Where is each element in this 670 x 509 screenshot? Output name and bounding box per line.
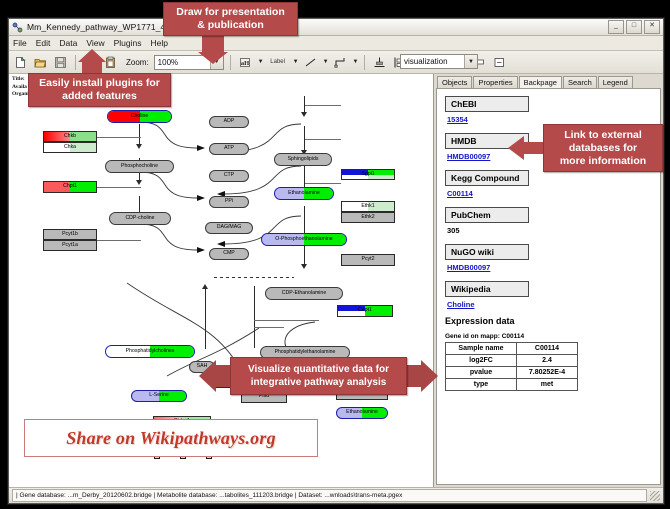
- cell-value: 2.4: [517, 355, 578, 367]
- callout-visualize-line1: Visualize quantitative data for: [248, 363, 389, 376]
- menubar: File Edit Data View Plugins Help: [9, 36, 663, 51]
- tab-properties[interactable]: Properties: [473, 76, 517, 88]
- tab-backpage[interactable]: Backpage: [519, 76, 562, 88]
- node-label: Sphingolipids: [288, 157, 319, 162]
- node-label: L-Serine: [149, 393, 169, 398]
- table-row: log2FC 2.4: [446, 355, 578, 367]
- edge-pe-pc-dashed: [214, 277, 294, 278]
- callout-draw-line1: Draw for presentation: [176, 6, 285, 19]
- maximize-button[interactable]: □: [626, 20, 642, 34]
- cell-value: C00114: [517, 343, 578, 355]
- db-value-pubchem: 305: [447, 226, 660, 235]
- db-header-kegg: Kegg Compound: [445, 170, 529, 186]
- label-icon[interactable]: Label: [267, 54, 289, 71]
- edge-pc-pe-return: [205, 289, 206, 349]
- pathvisio-icon: [12, 22, 23, 33]
- chevron-down-icon[interactable]: ▼: [353, 59, 359, 65]
- callout-links-arrowhead-icon: [508, 136, 524, 160]
- node-label: O-Phosphoethanolamine: [275, 237, 332, 242]
- close-button[interactable]: ✕: [644, 20, 660, 34]
- cell-key: Sample name: [446, 343, 517, 355]
- side-panel-tabs: Objects Properties Backpage Search Legen…: [434, 74, 663, 88]
- edge-choline-phosphocholine: [139, 124, 140, 146]
- node-gene-ethk1[interactable]: Ethk1: [341, 201, 395, 212]
- font-icon[interactable]: aH: [237, 54, 254, 71]
- tab-search[interactable]: Search: [563, 76, 597, 88]
- node-cdp-choline[interactable]: CDP-choline: [109, 212, 171, 225]
- minimize-button[interactable]: _: [608, 20, 624, 34]
- db-header-pubchem: PubChem: [445, 207, 529, 223]
- toolbar: Zoom: 100% ▼ aH ▼ Label ▼ ▼ ▼: [9, 51, 663, 74]
- node-label: Ethk2: [361, 215, 374, 220]
- node-label: Phosphocholine: [121, 164, 158, 169]
- chevron-down-icon[interactable]: ▼: [258, 59, 264, 65]
- node-cofactor-adp[interactable]: ADP: [209, 116, 249, 128]
- screenshot-root: Mm_Kennedy_pathway_WP1771_45176.gpml - P…: [0, 0, 670, 509]
- node-label: Sgpl1: [361, 172, 374, 177]
- info-availability: Availa: [12, 84, 29, 92]
- node-label: Pcyt1a: [62, 243, 78, 248]
- gene-id-line: Gene id on mapp: C00114: [445, 333, 660, 340]
- callout-draw-tail-stem: [202, 36, 224, 52]
- node-label: Pisd: [259, 394, 269, 399]
- align-bottom-icon[interactable]: [371, 54, 388, 71]
- callout-draw: Draw for presentation & publication: [163, 2, 298, 36]
- table-row: Sample name C00114: [446, 343, 578, 355]
- node-label: Phosphatidylcholines: [126, 349, 175, 354]
- zoom-value: 100%: [158, 58, 178, 67]
- edge-ptdss-branch: [254, 286, 255, 348]
- edge-chpt1-line: [97, 187, 141, 188]
- edge-ethk-line: [305, 139, 341, 140]
- node-cofactor-ctp[interactable]: CTP: [209, 170, 249, 182]
- visualization-combobox[interactable]: visualization ▼: [400, 54, 478, 69]
- line-icon[interactable]: [302, 54, 319, 71]
- node-label: CMP: [223, 251, 235, 256]
- arrowhead-icon: [301, 112, 307, 117]
- visualization-value: visualization: [404, 57, 448, 66]
- arrowhead-icon: [301, 264, 307, 269]
- table-row: pvalue 7.80252E-4: [446, 367, 578, 379]
- db-link-chebi[interactable]: 15354: [447, 115, 660, 124]
- node-cdp-ethanolamine[interactable]: CDP-Ethanolamine: [265, 287, 343, 300]
- node-gene-pcyt2[interactable]: Pcyt2: [341, 254, 395, 266]
- cell-value: 7.80252E-4: [517, 367, 578, 379]
- menu-view[interactable]: View: [86, 38, 104, 48]
- callout-visualize-arrowhead-right-icon: [421, 360, 438, 392]
- menu-edit[interactable]: Edit: [36, 38, 51, 48]
- node-ethanolamine-top[interactable]: Ethanolamine: [274, 187, 334, 200]
- pathway-info-block: Title: Availa Organi: [12, 76, 29, 99]
- db-link-nugowiki[interactable]: HMDB00097: [447, 263, 660, 272]
- node-label: ADP: [224, 119, 235, 124]
- new-icon[interactable]: [12, 54, 29, 71]
- window-controls: _ □ ✕: [608, 20, 660, 34]
- edge-pcyt2-line: [305, 183, 341, 184]
- callout-visualize-arrowhead-left-icon: [199, 360, 216, 392]
- db-header-wikipedia: Wikipedia: [445, 281, 529, 297]
- menu-file[interactable]: File: [13, 38, 27, 48]
- save-icon[interactable]: [52, 54, 69, 71]
- cofactor-curve-adp-atp: [135, 120, 215, 152]
- label-dropdown-text: Label: [270, 59, 285, 65]
- edge-ptdss2-line: [254, 320, 319, 321]
- node-label: PPi: [225, 199, 233, 204]
- node-sphingolipids[interactable]: Sphingolipids: [274, 153, 332, 166]
- node-gene-pcyt1b[interactable]: Pcyt1b: [43, 229, 97, 240]
- node-gene-pcyt1a[interactable]: Pcyt1a: [43, 240, 97, 251]
- status-text: | Gene database: ...m_Derby_20120602.bri…: [12, 489, 647, 502]
- info-organism: Organi: [12, 91, 29, 99]
- node-gene-sgpl1[interactable]: Sgpl1: [341, 169, 395, 180]
- node-label: Pcyt2: [362, 257, 375, 262]
- info-title: Title:: [12, 76, 29, 84]
- chevron-down-icon[interactable]: ▼: [323, 59, 329, 65]
- node-gene-cept1[interactable]: Cept1: [337, 305, 393, 317]
- node-gene-chpt1[interactable]: Chpt1: [43, 181, 97, 193]
- node-o-phosphoethanolamine[interactable]: O-Phosphoethanolamine: [261, 233, 347, 246]
- callout-plugins-line1: Easily install plugins for: [39, 77, 160, 90]
- titlebar: Mm_Kennedy_pathway_WP1771_45176.gpml - P…: [9, 19, 663, 36]
- node-label: Ethk1: [361, 204, 374, 209]
- node-label: DAG/MAG: [217, 225, 242, 230]
- edge-chk-line: [97, 137, 141, 138]
- node-label: CTP: [224, 173, 234, 178]
- cell-key: log2FC: [446, 355, 517, 367]
- node-gene-chka[interactable]: Chka: [43, 142, 97, 153]
- callout-links-tail-stem: [523, 142, 545, 154]
- node-label: Ethanolamine: [288, 191, 320, 196]
- node-choline-top[interactable]: Choline: [107, 110, 172, 123]
- edge-sgpl1-line: [305, 105, 341, 106]
- callout-plugins-line2: added features: [62, 90, 137, 103]
- open-icon[interactable]: [32, 54, 49, 71]
- db-header-nugowiki: NuGO wiki: [445, 244, 529, 260]
- chevron-down-icon[interactable]: ▼: [464, 55, 477, 68]
- node-phosphatidylcholines[interactable]: Phosphatidylcholines: [105, 345, 195, 358]
- connector-icon[interactable]: [332, 54, 349, 71]
- toolbar-separator: [230, 55, 231, 70]
- statusbar: | Gene database: ...m_Derby_20120602.bri…: [9, 487, 663, 503]
- expression-table: Sample name C00114 log2FC 2.4 pvalue 7.8…: [445, 342, 578, 391]
- arrowhead-icon: [136, 180, 142, 185]
- node-l-serine-left[interactable]: L-Serine: [131, 390, 187, 402]
- callout-visualize: Visualize quantitative data for integrat…: [230, 357, 407, 395]
- node-ethanolamine-bottom[interactable]: Ethanolamine: [336, 407, 388, 419]
- cofactor-curve-ctp-ppi: [135, 170, 215, 202]
- cofactor-curve-dag-cmp: [135, 222, 215, 254]
- zoom-fit-icon[interactable]: [491, 54, 508, 71]
- callout-links-line3: more information: [560, 155, 646, 168]
- node-label: Choline: [131, 114, 149, 119]
- wikipathways-banner-text: Share on Wikipathways.org: [66, 428, 276, 449]
- arrowhead-icon: [202, 284, 208, 289]
- callout-draw-arrowhead-icon: [198, 52, 228, 64]
- callout-visualize-line2: integrative pathway analysis: [251, 376, 387, 389]
- edge-pcyt1-line: [97, 240, 141, 241]
- table-row: type met: [446, 379, 578, 391]
- svg-text:aH: aH: [241, 60, 249, 67]
- arrowhead-icon: [136, 144, 142, 149]
- edge-pisd-line: [254, 327, 284, 328]
- cell-key: type: [446, 379, 517, 391]
- callout-links-line1: Link to external: [564, 129, 642, 142]
- node-cofactor-atp[interactable]: ATP: [209, 143, 249, 155]
- node-label: CDP-choline: [125, 216, 154, 221]
- menu-data[interactable]: Data: [59, 38, 77, 48]
- node-label: Chkb: [64, 134, 76, 139]
- node-cofactor-ppi[interactable]: PPi: [209, 196, 249, 208]
- tab-legend[interactable]: Legend: [598, 76, 633, 88]
- node-label: Chpt1: [63, 184, 77, 189]
- db-link-kegg[interactable]: C00114: [447, 189, 660, 198]
- toolbar-separator: [364, 55, 365, 70]
- menu-plugins[interactable]: Plugins: [114, 38, 142, 48]
- menu-help[interactable]: Help: [151, 38, 168, 48]
- wikipathways-banner: Share on Wikipathways.org: [24, 419, 318, 457]
- node-gene-ethk2[interactable]: Ethk2: [341, 212, 395, 223]
- node-cofactor-cmp[interactable]: CMP: [209, 248, 249, 260]
- expression-data-title: Expression data: [445, 316, 660, 326]
- node-gene-chkb[interactable]: Chkb: [43, 131, 97, 142]
- zoom-label: Zoom:: [126, 58, 149, 67]
- callout-draw-line2: & publication: [197, 19, 264, 32]
- tab-objects[interactable]: Objects: [437, 76, 472, 88]
- node-cofactor-dagmag[interactable]: DAG/MAG: [205, 222, 253, 234]
- cell-key: pvalue: [446, 367, 517, 379]
- callout-links-line2: databases for: [569, 142, 637, 155]
- callout-plugins: Easily install plugins for added feature…: [28, 73, 171, 107]
- callout-plugins-arrowhead-icon: [78, 49, 106, 62]
- chevron-down-icon[interactable]: ▼: [293, 59, 299, 65]
- resize-grip[interactable]: [650, 491, 660, 501]
- node-label: Pcyt1b: [62, 232, 78, 237]
- node-label: Chka: [64, 145, 76, 150]
- node-label: Phosphatidylethanolamine: [275, 350, 336, 355]
- node-label: Cept1: [358, 308, 372, 313]
- db-header-chebi: ChEBI: [445, 96, 529, 112]
- node-phosphocholine[interactable]: Phosphocholine: [105, 160, 174, 173]
- callout-links: Link to external databases for more info…: [543, 124, 663, 172]
- db-link-wikipedia[interactable]: Choline: [447, 300, 660, 309]
- toolbar-separator: [75, 55, 76, 70]
- cell-value: met: [517, 379, 578, 391]
- node-label: Ethanolamine: [346, 410, 378, 415]
- node-label: CDP-Ethanolamine: [282, 291, 326, 296]
- node-label: ATP: [224, 146, 234, 151]
